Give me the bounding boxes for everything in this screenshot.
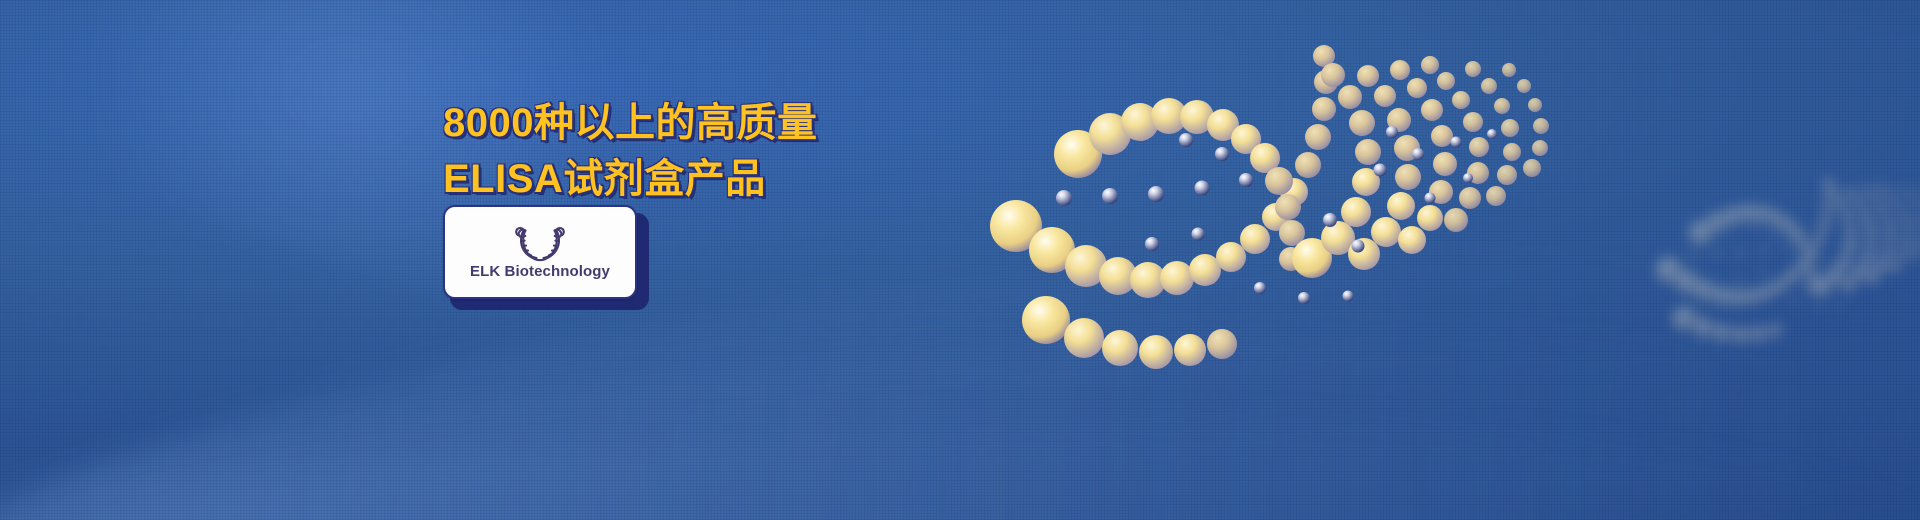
headline-block: 8000种以上的高质量 ELISA试剂盒产品 [443, 96, 1203, 206]
hero-banner: 8000种以上的高质量 ELISA试剂盒产品 [0, 0, 1920, 520]
background-vignette [0, 0, 1920, 520]
dna-antler-icon [514, 225, 566, 263]
logo-card-face[interactable]: ELK Biotechnology [443, 205, 637, 299]
brand-logo-card[interactable]: ELK Biotechnology [443, 205, 649, 310]
headline-line-2: ELISA试剂盒产品 [443, 152, 1203, 206]
headline-line-1: 8000种以上的高质量 [443, 96, 1203, 150]
brand-name: ELK Biotechnology [470, 264, 610, 279]
